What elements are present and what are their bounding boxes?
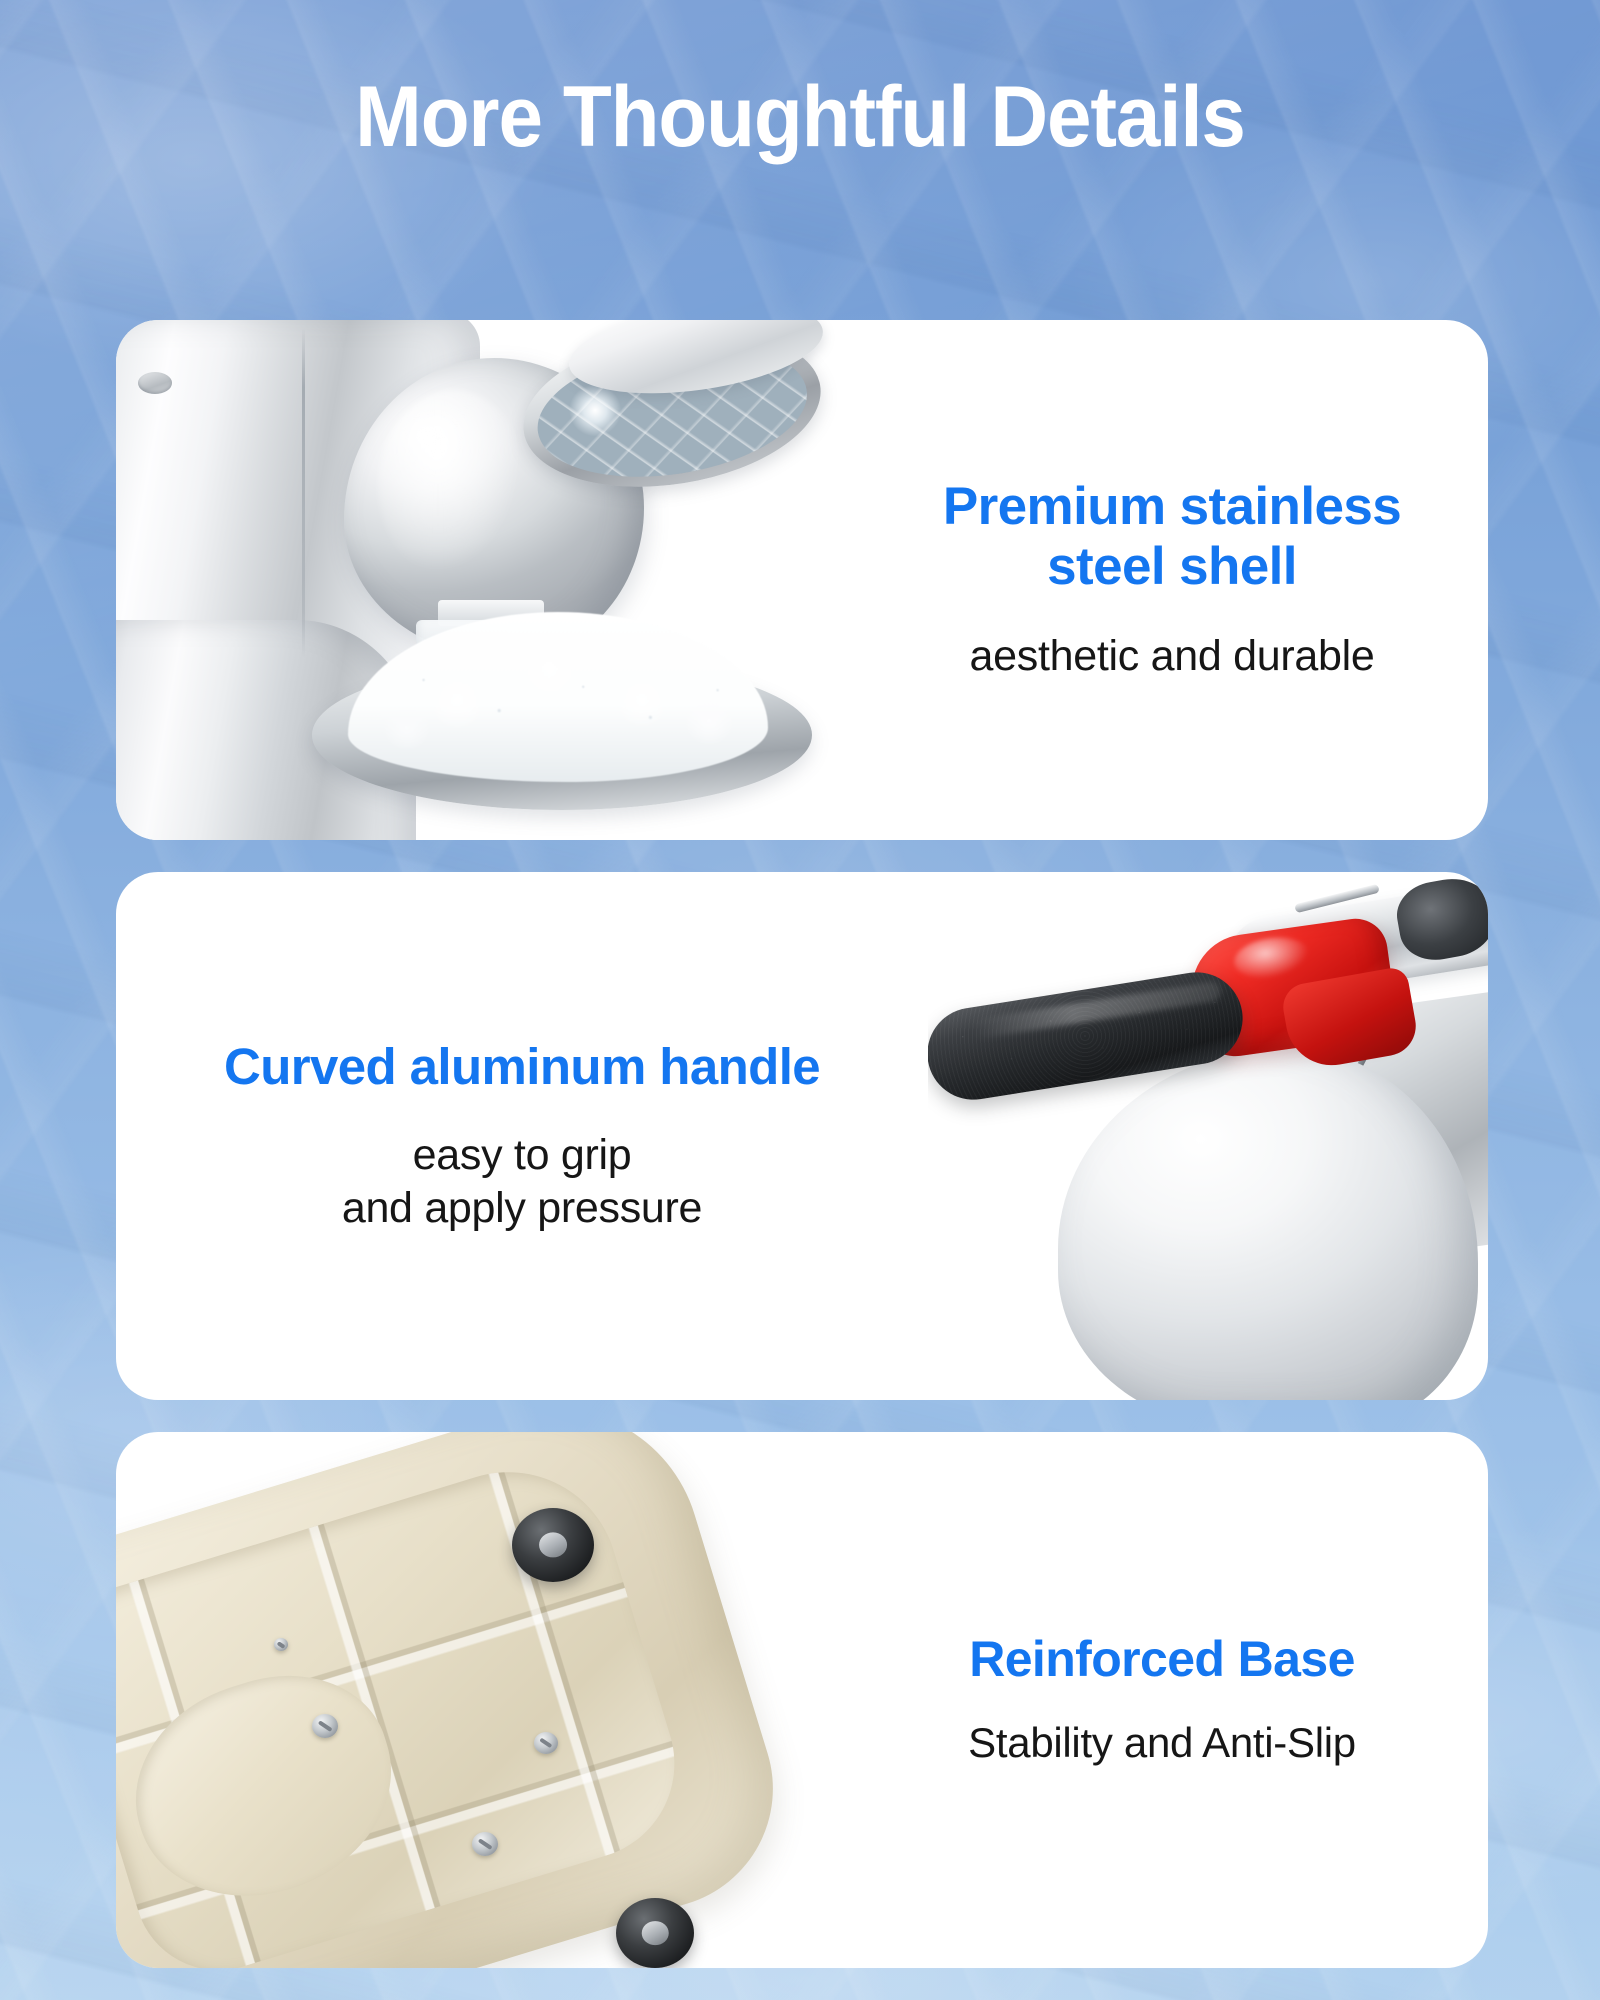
card-2-text-column: Curved aluminum handle easy to grip and … bbox=[116, 872, 928, 1400]
card-2-subtext: easy to grip and apply pressure bbox=[342, 1129, 702, 1234]
card-3-text-column: Reinforced Base Stability and Anti-Slip bbox=[836, 1432, 1488, 1968]
card-1-subtext: aesthetic and durable bbox=[970, 630, 1375, 682]
card-1-text-column: Premium stainless steel shell aesthetic … bbox=[856, 320, 1488, 840]
card-3-subtext: Stability and Anti-Slip bbox=[968, 1717, 1356, 1768]
screw-icon bbox=[534, 1732, 558, 1754]
feature-card-premium-shell: Premium stainless steel shell aesthetic … bbox=[116, 320, 1488, 840]
body-screw-icon bbox=[138, 372, 172, 394]
infographic-page: More Thoughtful Details Premium stainles… bbox=[0, 0, 1600, 2000]
product-photo-reinforced-base bbox=[116, 1432, 836, 1968]
card-2-subtext-line-1: easy to grip bbox=[342, 1129, 702, 1181]
drum-highlight bbox=[378, 390, 528, 580]
screw-icon bbox=[312, 1714, 338, 1738]
product-photo-curved-handle bbox=[928, 872, 1488, 1400]
page-title: More Thoughtful Details bbox=[56, 74, 1544, 160]
screw-icon bbox=[472, 1832, 498, 1856]
feature-card-curved-handle: Curved aluminum handle easy to grip and … bbox=[116, 872, 1488, 1400]
rubber-foot bbox=[616, 1898, 694, 1968]
body-seam-line bbox=[302, 328, 305, 658]
card-1-heading: Premium stainless steel shell bbox=[882, 477, 1462, 596]
card-2-subtext-line-2: and apply pressure bbox=[342, 1182, 702, 1234]
product-photo-stainless-shell bbox=[116, 320, 856, 840]
card-3-heading: Reinforced Base bbox=[969, 1631, 1355, 1687]
card-2-heading: Curved aluminum handle bbox=[224, 1038, 820, 1095]
screw-icon bbox=[274, 1638, 288, 1651]
rubber-foot bbox=[512, 1508, 594, 1582]
feature-card-reinforced-base: Reinforced Base Stability and Anti-Slip bbox=[116, 1432, 1488, 1968]
